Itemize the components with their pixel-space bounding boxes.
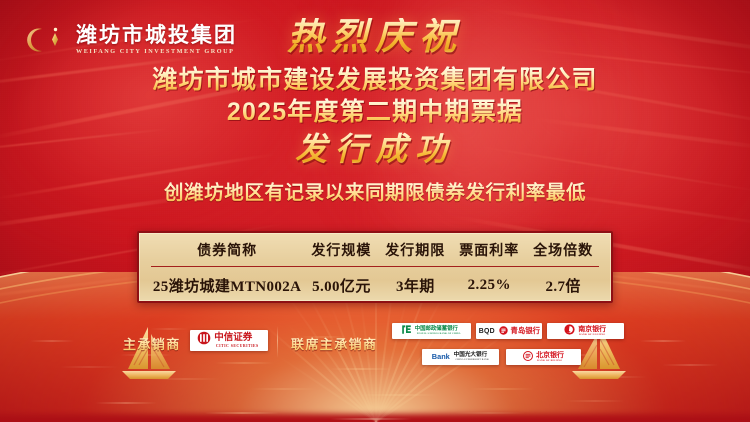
cell-subscription-multiple: 2.7倍 <box>527 267 599 305</box>
brand-name-cn: 潍坊市城投集团 <box>76 25 237 46</box>
headline-issue: 2025年度第二期中期票据 <box>0 97 750 127</box>
cell-bond-name: 25潍坊城建MTN002A <box>151 267 303 305</box>
celebration-banner: 潍坊市城投集团 WEIFANG CITY INVESTMENT GROUP 热烈… <box>0 0 750 422</box>
headline-tagline: 创潍坊地区有记录以来同期限债券发行利率最低 <box>0 176 750 205</box>
brand-name-en: WEIFANG CITY INVESTMENT GROUP <box>76 49 237 55</box>
underwriters-section: 主承销商 联席主承销商 <box>0 322 750 378</box>
table-row: 25潍坊城建MTN002A 5.00亿元 3年期 2.25% 2.7倍 <box>151 267 599 305</box>
crescent-emblem-icon <box>27 20 67 60</box>
joint-underwriter-label: 联席主承销商 <box>291 334 377 353</box>
table-header-issue-term: 发行期限 <box>379 233 451 267</box>
cell-coupon-rate: 2.25% <box>451 267 527 305</box>
headline-company: 潍坊市城市建设发展投资集团有限公司 <box>0 65 750 95</box>
bond-details-table: 债券简称 发行规模 发行期限 票面利率 全场倍数 25潍坊城建MTN002A 5… <box>137 231 613 303</box>
table-header-issue-size: 发行规模 <box>303 233 379 267</box>
table-header-subscription-multiple: 全场倍数 <box>527 233 599 267</box>
underwriter-divider <box>277 326 278 358</box>
headline-success: 发行成功 <box>0 132 750 168</box>
table-header-coupon-rate: 票面利率 <box>451 233 527 267</box>
table-header-row: 债券简称 发行规模 发行期限 票面利率 全场倍数 <box>151 233 599 267</box>
cell-issue-term: 3年期 <box>379 267 451 305</box>
cell-issue-size: 5.00亿元 <box>303 267 379 305</box>
lead-underwriter-label: 主承销商 <box>123 334 181 353</box>
brand-logo: 潍坊市城投集团 WEIFANG CITY INVESTMENT GROUP <box>27 20 237 60</box>
table-header-bond-name: 债券简称 <box>151 233 303 267</box>
